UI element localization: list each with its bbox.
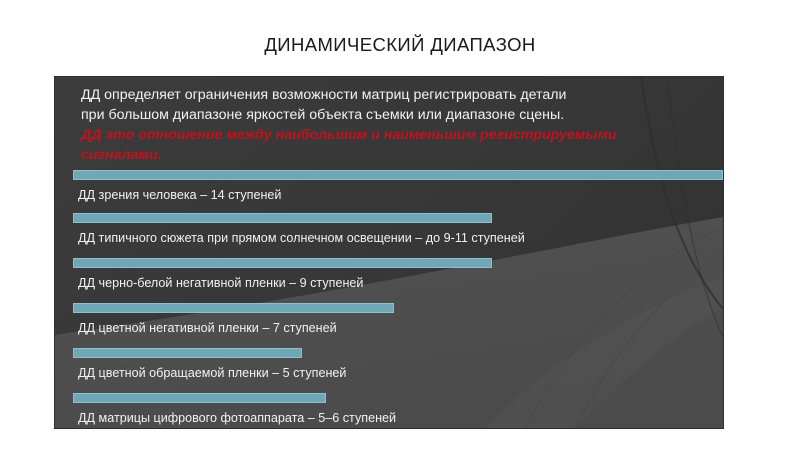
bar xyxy=(73,170,723,180)
bar xyxy=(73,213,492,223)
intro-line-1: ДД определяет ограничения возможности ма… xyxy=(81,85,701,105)
bar-row: ДД зрения человека – 14 ступеней xyxy=(73,170,713,203)
bar xyxy=(73,348,302,358)
intro-paragraph: ДД определяет ограничения возможности ма… xyxy=(81,85,701,165)
bar-row: ДД матрицы цифрового фотоаппарата – 5–6 … xyxy=(73,393,713,426)
intro-line-2: при большом диапазоне яркостей объекта с… xyxy=(81,105,701,125)
bar-label: ДД зрения человека – 14 ступеней xyxy=(73,188,713,203)
bar-label: ДД цветной обращаемой пленки – 5 ступене… xyxy=(73,366,713,381)
bar-row: ДД цветной негативной пленки – 7 ступене… xyxy=(73,303,713,336)
intro-emphasis-line-2: сигналами. xyxy=(81,145,701,165)
slide: ДИНАМИЧЕСКИЙ ДИАПАЗОН xyxy=(0,0,800,450)
bar-label: ДД черно-белой негативной пленки – 9 сту… xyxy=(73,276,713,291)
intro-emphasis-line-1: ДД это отношение между наибольшим и наим… xyxy=(81,125,701,145)
bar xyxy=(73,303,394,313)
bar-row: ДД черно-белой негативной пленки – 9 сту… xyxy=(73,258,713,291)
bar xyxy=(73,258,492,268)
bar-row: ДД цветной обращаемой пленки – 5 ступене… xyxy=(73,348,713,381)
bar-label: ДД типичного сюжета при прямом солнечном… xyxy=(73,231,713,246)
bar-row: ДД типичного сюжета при прямом солнечном… xyxy=(73,213,713,246)
page-title: ДИНАМИЧЕСКИЙ ДИАПАЗОН xyxy=(0,34,800,56)
bar-label: ДД матрицы цифрового фотоаппарата – 5–6 … xyxy=(73,411,713,426)
content-panel: ДД определяет ограничения возможности ма… xyxy=(55,77,723,428)
bar-label: ДД цветной негативной пленки – 7 ступене… xyxy=(73,321,713,336)
bar xyxy=(73,393,326,403)
